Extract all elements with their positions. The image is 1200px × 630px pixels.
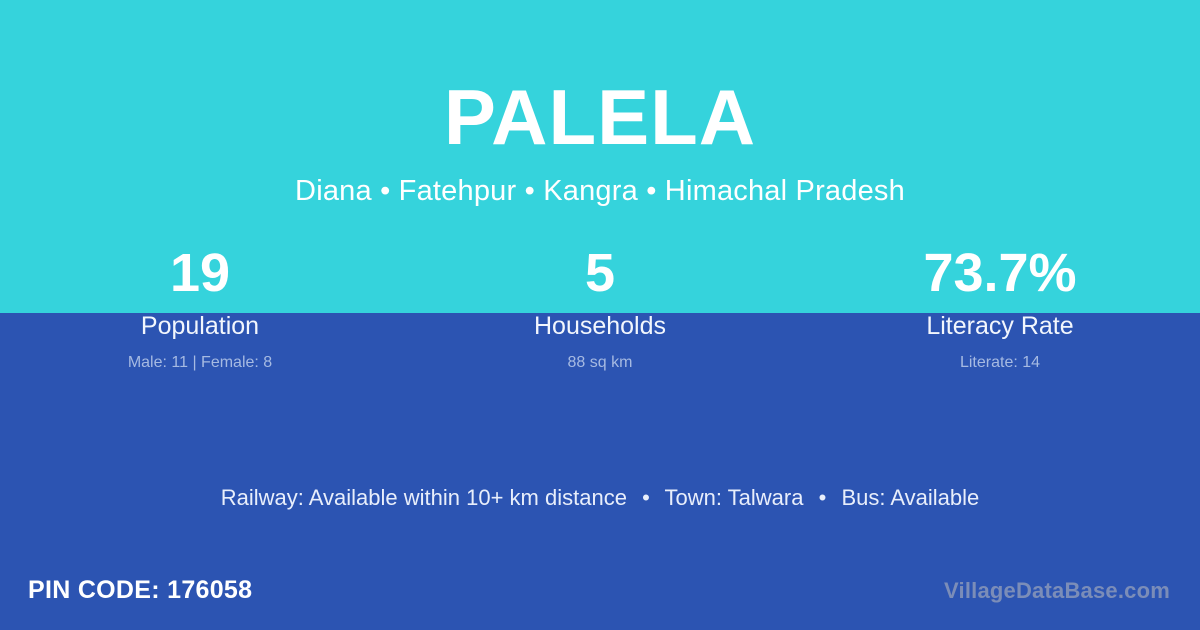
stats-row: 19 Population Male: 11 | Female: 8 5 Hou… — [0, 246, 1200, 371]
breadcrumb: Diana • Fatehpur • Kangra • Himachal Pra… — [0, 177, 1200, 206]
households-value: 5 — [400, 246, 800, 304]
households-label: Households — [400, 314, 800, 339]
page-title: PALELA — [0, 78, 1200, 156]
population-breakdown: Male: 11 | Female: 8 — [0, 355, 400, 371]
bullet-separator-icon: • — [633, 487, 659, 509]
bullet-separator-icon: • — [810, 487, 836, 509]
railway-info: Railway: Available within 10+ km distanc… — [221, 485, 627, 510]
footer: PIN CODE: 176058 VillageDataBase.com — [0, 575, 1200, 615]
town-info: Town: Talwara — [664, 485, 803, 510]
literacy-rate-label: Literacy Rate — [800, 314, 1200, 339]
transport-info-row: Railway: Available within 10+ km distanc… — [0, 487, 1200, 509]
bus-info: Bus: Available — [841, 485, 979, 510]
population-label: Population — [0, 314, 400, 339]
stat-card-population: 19 Population Male: 11 | Female: 8 — [0, 246, 400, 371]
population-value: 19 — [0, 246, 400, 304]
area-value: 88 sq km — [400, 355, 800, 371]
stat-card-households: 5 Households 88 sq km — [400, 246, 800, 371]
site-brand-watermark: VillageDataBase.com — [944, 580, 1170, 602]
stat-card-literacy: 73.7% Literacy Rate Literate: 14 — [800, 246, 1200, 371]
literate-count: Literate: 14 — [800, 355, 1200, 371]
pin-code-label: PIN CODE: 176058 — [28, 578, 252, 603]
village-header: PALELA Diana • Fatehpur • Kangra • Himac… — [0, 0, 1200, 206]
literacy-rate-value: 73.7% — [800, 246, 1200, 304]
